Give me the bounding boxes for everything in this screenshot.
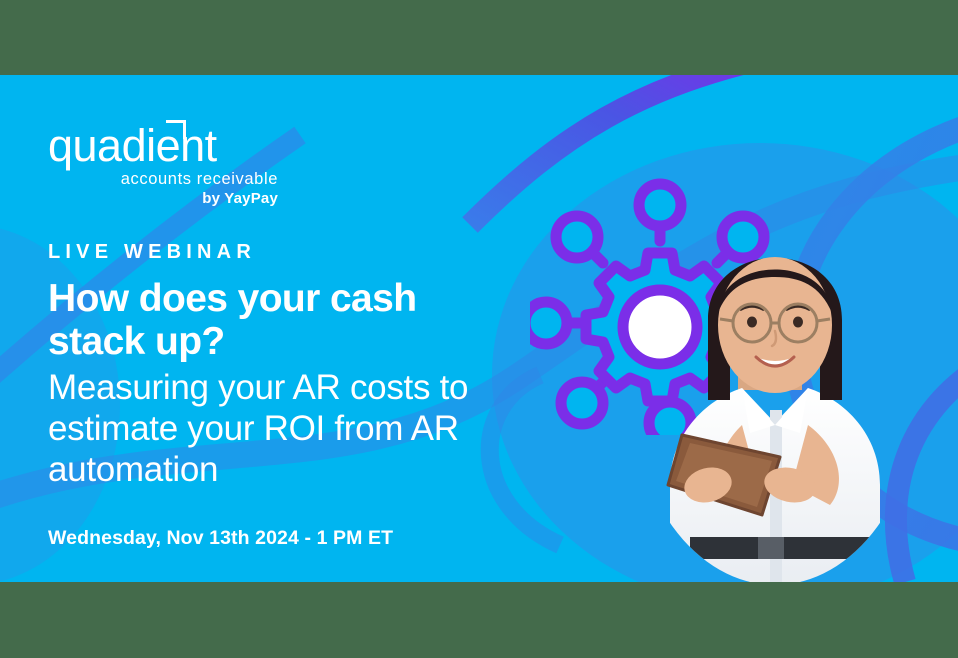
promo-text-block: LIVE WEBINAR How does your cash stack up…	[48, 240, 568, 550]
webinar-promo-banner: quadient accounts receivable by YayPay L…	[0, 75, 958, 582]
page-title: How does your cash stack up?	[48, 277, 488, 363]
eyebrow-label: LIVE WEBINAR	[48, 240, 568, 264]
quadient-logo[interactable]: quadient accounts receivable by YayPay	[48, 123, 278, 208]
webinar-date: Wednesday, Nov 13th 2024 - 1 PM ET	[48, 526, 568, 550]
logo-wordmark-text: quadient	[48, 120, 217, 171]
logo-wordmark-row: quadient	[48, 123, 278, 169]
quadient-bracket-mark-icon	[166, 120, 186, 139]
screenshot-stage: quadient accounts receivable by YayPay L…	[0, 0, 958, 658]
banner-content: quadient accounts receivable by YayPay L…	[0, 75, 958, 582]
letterbox-bottom	[0, 582, 958, 658]
logo-tagline: accounts receivable	[48, 170, 278, 189]
letterbox-top	[0, 0, 958, 75]
page-subtitle: Measuring your AR costs to estimate your…	[48, 367, 548, 490]
logo-byline: by YayPay	[48, 190, 278, 208]
